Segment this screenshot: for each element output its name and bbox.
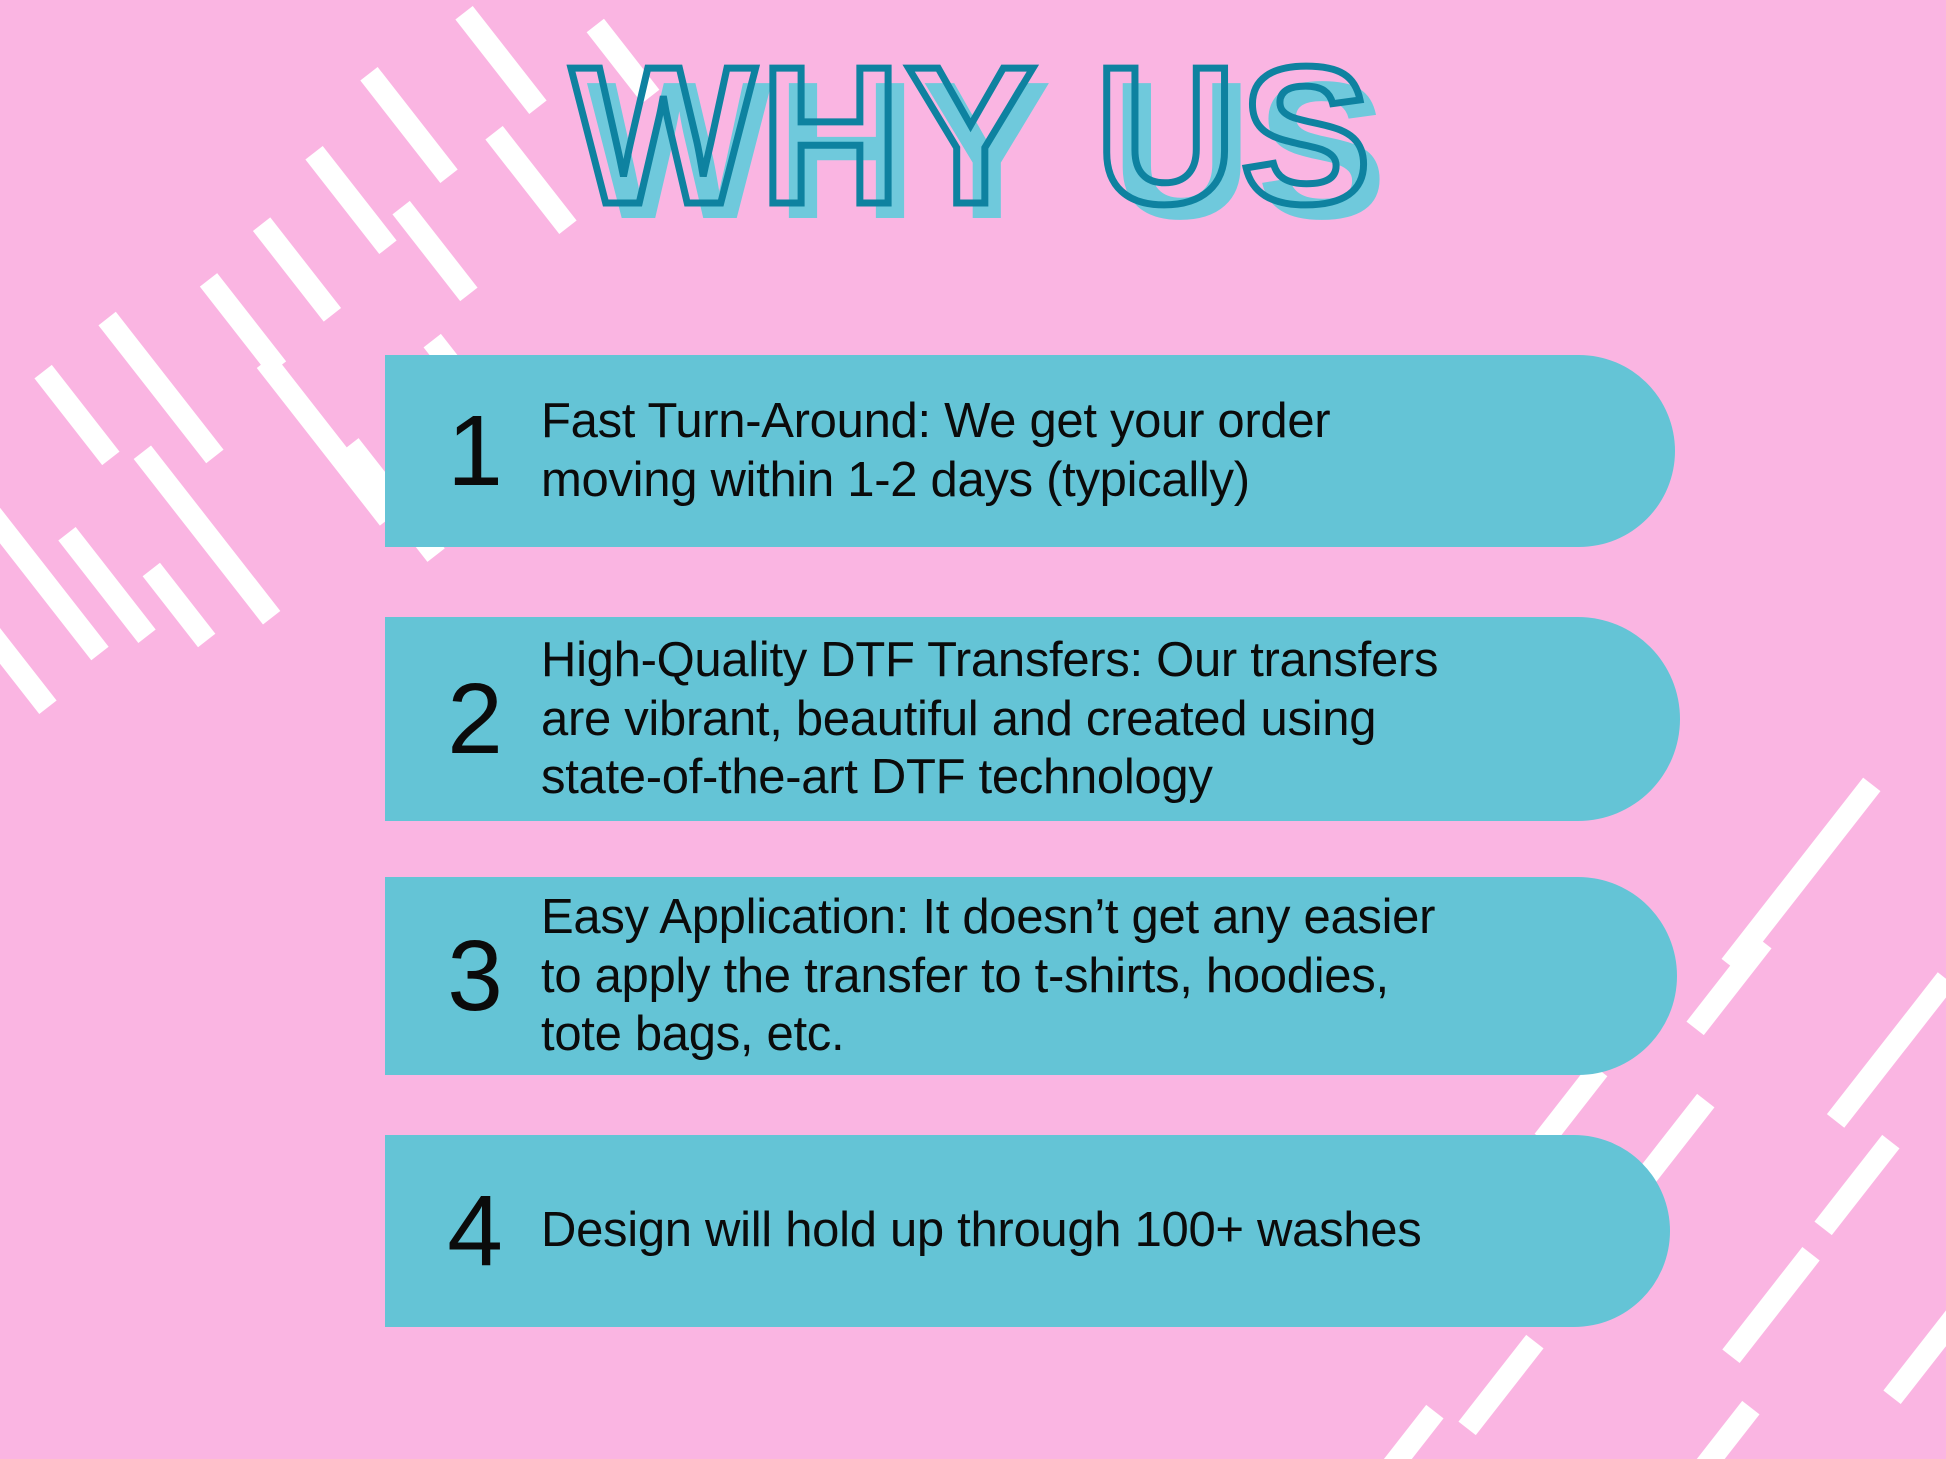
benefit-number-4: 4 — [425, 1181, 523, 1281]
benefit-number-1: 1 — [425, 401, 523, 501]
benefit-line: are vibrant, beautiful and created using — [541, 692, 1376, 746]
benefit-line: Easy Application: It doesn’t get any eas… — [541, 890, 1435, 944]
benefit-card-1: 1 Fast Turn-Around: We get your order mo… — [385, 355, 1675, 547]
benefit-line: Fast Turn-Around: We get your order — [541, 394, 1330, 448]
benefit-line: High-Quality DTF Transfers: Our transfer… — [541, 633, 1438, 687]
benefit-line: moving within 1-2 days (typically) — [541, 453, 1250, 507]
benefit-line: Design will hold up through 100+ washes — [541, 1203, 1421, 1257]
benefit-line: to apply the transfer to t-shirts, hoodi… — [541, 949, 1389, 1003]
benefit-number-3: 3 — [425, 926, 523, 1026]
benefit-card-3: 3 Easy Application: It doesn’t get any e… — [385, 877, 1677, 1075]
benefit-text-4: Design will hold up through 100+ washes — [523, 1201, 1481, 1260]
benefit-line: tote bags, etc. — [541, 1007, 844, 1061]
benefit-text-2: High-Quality DTF Transfers: Our transfer… — [523, 631, 1498, 807]
benefit-text-1: Fast Turn-Around: We get your order movi… — [523, 392, 1390, 511]
benefit-card-4: 4 Design will hold up through 100+ washe… — [385, 1135, 1670, 1327]
title-block: WHY US WHY US — [0, 46, 1946, 226]
benefits-list: 1 Fast Turn-Around: We get your order mo… — [385, 355, 1675, 1327]
benefit-text-3: Easy Application: It doesn’t get any eas… — [523, 888, 1495, 1064]
page-title: WHY US — [571, 46, 1375, 226]
title-stack: WHY US WHY US — [571, 46, 1375, 226]
benefit-card-2: 2 High-Quality DTF Transfers: Our transf… — [385, 617, 1680, 821]
benefit-line: state-of-the-art DTF technology — [541, 750, 1213, 804]
benefit-number-2: 2 — [425, 669, 523, 769]
